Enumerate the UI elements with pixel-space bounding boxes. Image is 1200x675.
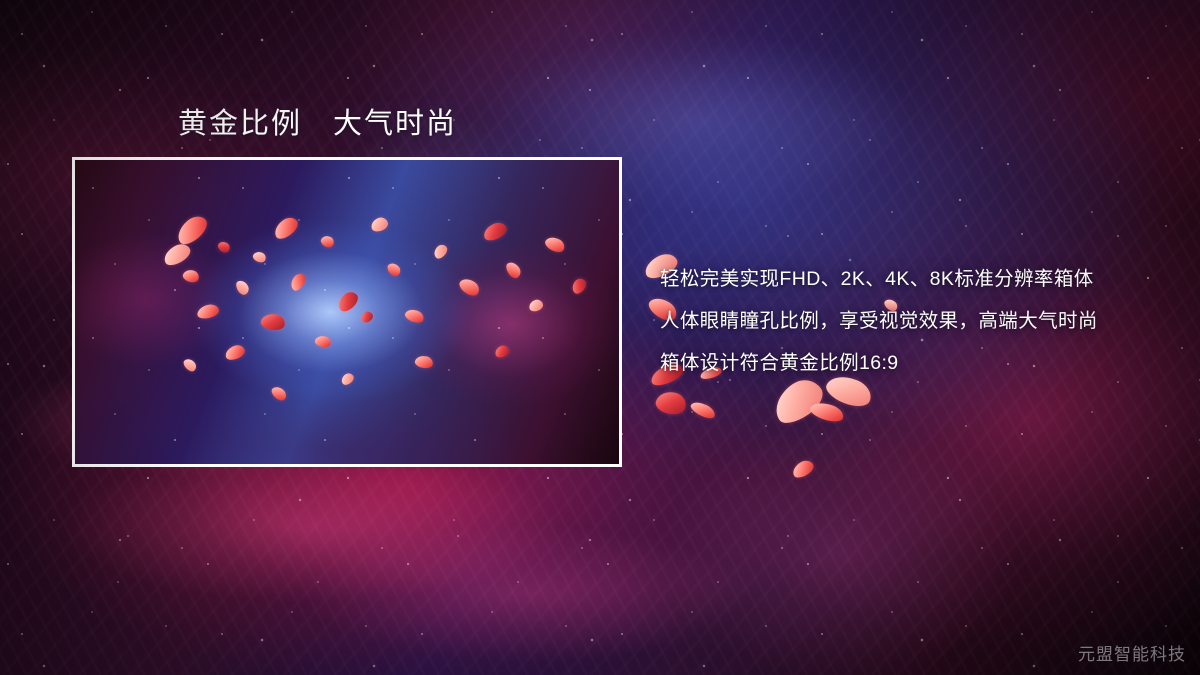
- watermark: 元盟智能科技: [1078, 640, 1186, 665]
- presentation-slide: 黄金比例 大气时尚: [0, 0, 1200, 675]
- body-line-3: 箱体设计符合黄金比例16:9: [660, 342, 1170, 384]
- galaxy-petals-photo-frame: [72, 157, 622, 467]
- body-text-block: 轻松完美实现FHD、2K、4K、8K标准分辨率箱体 人体眼睛瞳孔比例，享受视觉效…: [660, 258, 1170, 384]
- photo-starfield: [75, 160, 619, 464]
- body-line-2: 人体眼睛瞳孔比例，享受视觉效果，高端大气时尚: [660, 300, 1170, 342]
- page-title: 黄金比例 大气时尚: [178, 100, 457, 142]
- body-line-1: 轻松完美实现FHD、2K、4K、8K标准分辨率箱体: [660, 258, 1170, 300]
